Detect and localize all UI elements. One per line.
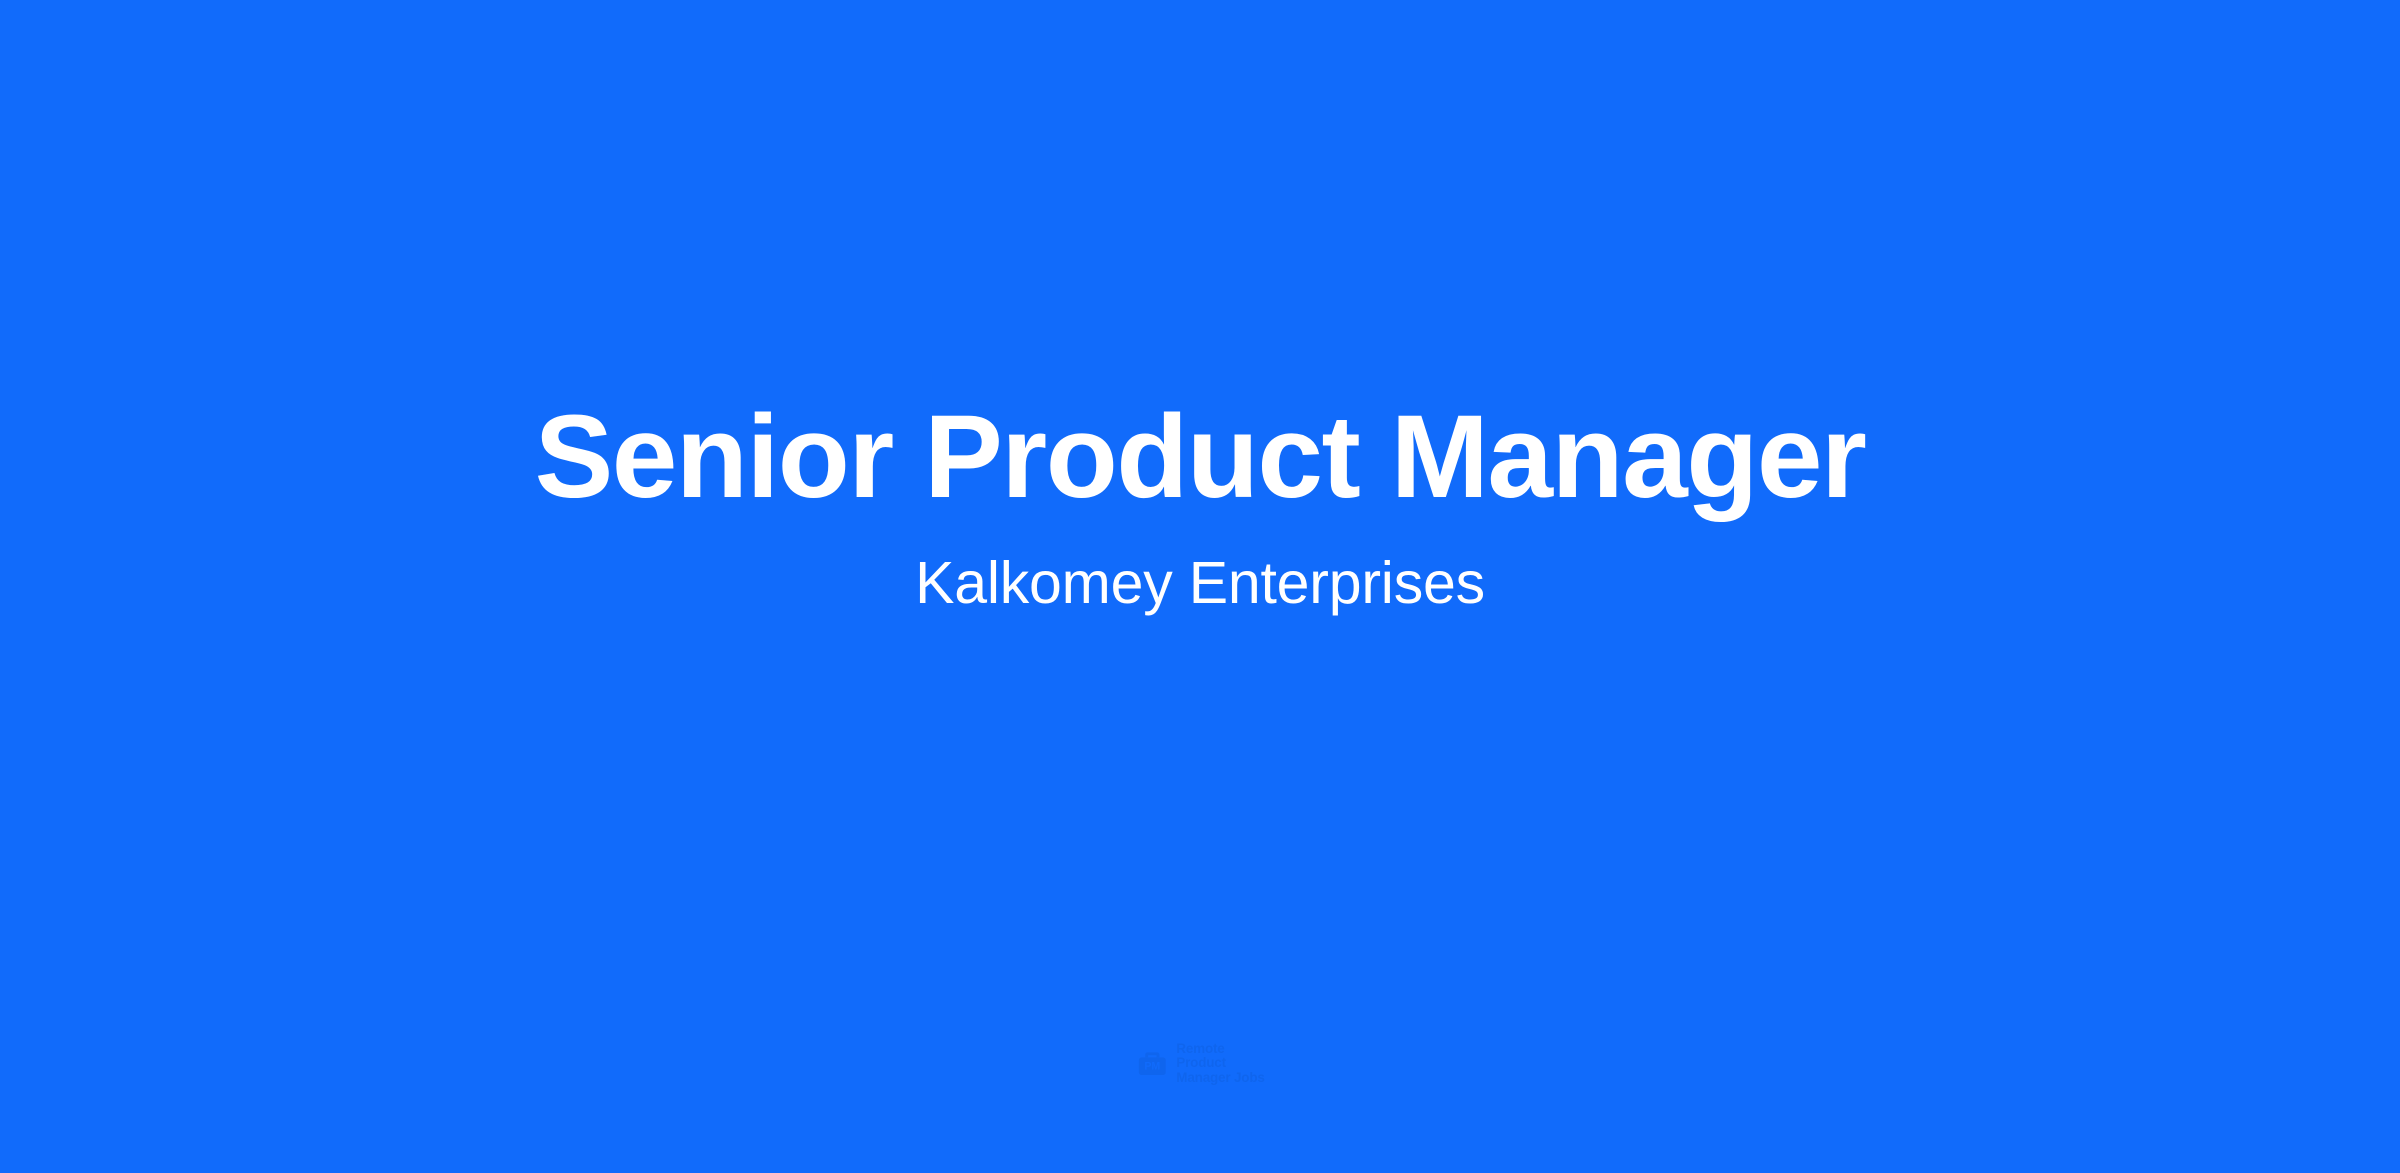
- job-announcement-card: Senior Product Manager Kalkomey Enterpri…: [0, 0, 2400, 1173]
- watermark-line-1: Remote: [1176, 1042, 1264, 1056]
- hero-text-block: Senior Product Manager Kalkomey Enterpri…: [0, 0, 2400, 1173]
- company-name: Kalkomey Enterprises: [915, 516, 1485, 613]
- watermark-line-2: Product: [1176, 1056, 1264, 1070]
- briefcase-pm-icon: PM: [1135, 1046, 1169, 1080]
- job-title: Senior Product Manager: [535, 398, 1866, 516]
- brand-watermark: PM Remote Product Manager Jobs: [1135, 1042, 1264, 1085]
- watermark-monogram: PM: [1144, 1061, 1160, 1073]
- watermark-line-3: Manager Jobs: [1176, 1071, 1264, 1085]
- watermark-wordmark: Remote Product Manager Jobs: [1176, 1042, 1264, 1085]
